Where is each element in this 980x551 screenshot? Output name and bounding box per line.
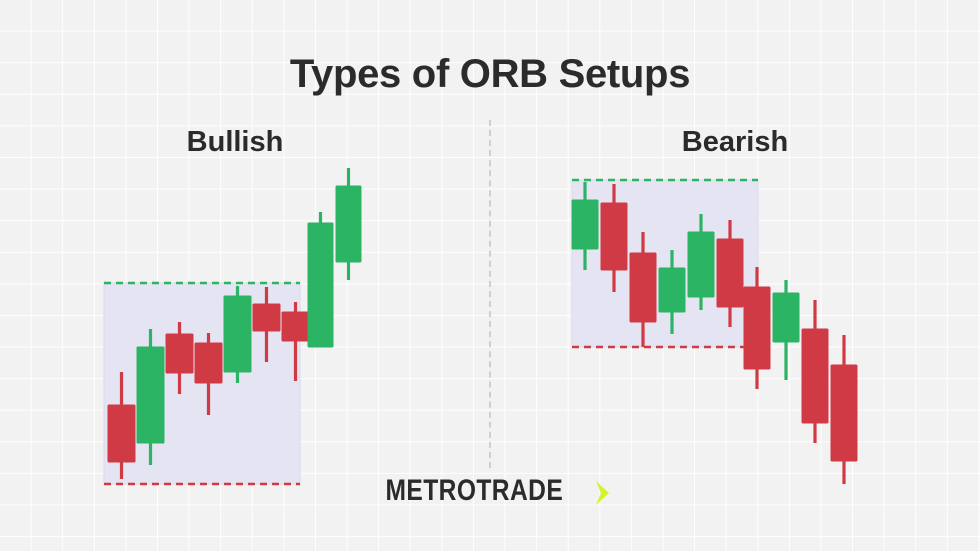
- opening-range-box: [572, 180, 758, 347]
- candle-bullish-orb-7: [282, 302, 309, 381]
- brand-name: METROTRADE: [386, 476, 564, 506]
- candle-body: [336, 186, 361, 262]
- candle-body: [224, 296, 251, 372]
- brand-logo: METROTRADE: [0, 476, 980, 512]
- candle-body: [717, 239, 743, 307]
- candle-bearish-orb-6: [717, 220, 743, 327]
- chevron-right-icon: [592, 478, 614, 512]
- panel-divider: [489, 120, 491, 468]
- candle-body: [744, 287, 770, 369]
- candle-body: [630, 253, 656, 322]
- candle-body: [253, 304, 280, 331]
- candle-bullish-orb-9: [336, 168, 361, 280]
- panel-title-bearish: Bearish: [600, 128, 870, 157]
- candle-bearish-orb-5: [688, 214, 714, 310]
- candle-bullish-orb-4: [195, 333, 222, 415]
- candle-bullish-orb-2: [137, 329, 164, 465]
- candle-bearish-orb-1: [572, 182, 598, 270]
- candle-bearish-orb-7: [744, 267, 770, 389]
- candle-bearish-orb-8: [773, 280, 799, 380]
- page-title: Types of ORB Setups: [0, 54, 980, 94]
- candle-bearish-orb-10: [831, 335, 857, 484]
- candle-body: [601, 203, 627, 270]
- candle-bullish-orb-5: [224, 286, 251, 383]
- opening-range-box: [104, 283, 300, 484]
- candle-body: [773, 293, 799, 342]
- candle-body: [802, 329, 828, 423]
- candle-bullish-orb-1: [108, 372, 135, 479]
- candle-bullish-orb-8: [308, 212, 333, 347]
- candle-bullish-orb-6: [253, 287, 280, 362]
- infographic-canvas: Types of ORB Setups Bullish Bearish METR…: [0, 0, 980, 551]
- candle-body: [308, 223, 333, 347]
- candle-bullish-orb-3: [166, 322, 193, 394]
- candle-body: [659, 268, 685, 312]
- candle-body: [282, 312, 309, 341]
- candle-body: [137, 347, 164, 443]
- candle-bearish-orb-4: [659, 250, 685, 334]
- candle-body: [688, 232, 714, 297]
- candle-bearish-orb-3: [630, 232, 656, 347]
- candle-body: [572, 200, 598, 249]
- candle-body: [108, 405, 135, 462]
- chart-bearish-orb: [572, 180, 857, 484]
- candle-body: [195, 343, 222, 383]
- panel-title-bullish: Bullish: [95, 128, 375, 157]
- candle-bearish-orb-2: [601, 184, 627, 292]
- candle-body: [166, 334, 193, 373]
- candle-bearish-orb-9: [802, 300, 828, 443]
- chart-bullish-orb: [104, 168, 361, 484]
- candle-body: [831, 365, 857, 461]
